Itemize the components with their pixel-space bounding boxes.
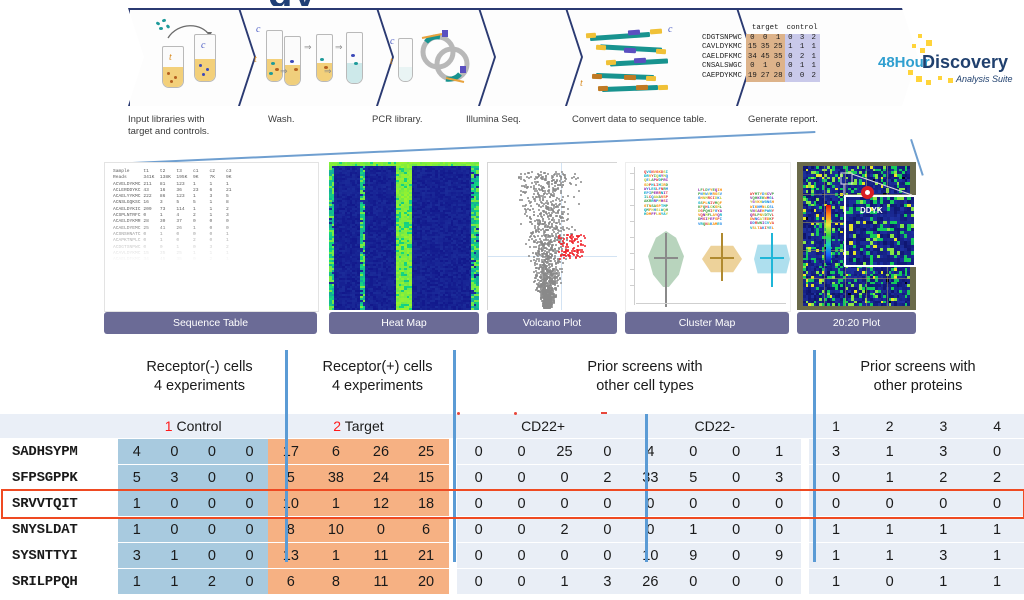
cd22-negative-cell: 9 bbox=[672, 543, 715, 569]
mini-control-cell: 1 bbox=[808, 62, 820, 72]
control-cell: 1 bbox=[118, 569, 156, 595]
mini-target-cell: 27 bbox=[759, 72, 772, 82]
target-cell: 5 bbox=[268, 465, 313, 491]
prior-protein-cell: 0 bbox=[863, 569, 917, 595]
cd22-positive-cell: 0 bbox=[500, 491, 543, 517]
table-row[interactable]: SRVVTQIT10001011218000000000000 bbox=[0, 491, 1024, 517]
panel-strip: Sample t1 t2 t3 c1 c2 c3 Reads 341K 138K… bbox=[104, 162, 916, 334]
target-cell: 38 bbox=[313, 465, 358, 491]
target-cell: 20 bbox=[404, 569, 449, 595]
cd22-negative-cell: 4 bbox=[629, 439, 672, 465]
cd22-positive-cell: 1 bbox=[543, 569, 586, 595]
cd22-positive-cell: 3 bbox=[586, 569, 629, 595]
panel-label-heat-map[interactable]: Heat Map bbox=[329, 312, 479, 334]
subheader-protein-2: 2 bbox=[863, 414, 917, 439]
prior-protein-cell: 2 bbox=[970, 465, 1024, 491]
workflow-caption-1: Input libraries with target and controls… bbox=[128, 114, 248, 138]
workflow-caption-4: Illumina Seq. bbox=[466, 114, 556, 126]
cd22-negative-cell: 0 bbox=[715, 465, 758, 491]
target-cell: 10 bbox=[268, 491, 313, 517]
target-cell: 17 bbox=[268, 439, 313, 465]
group-heading-1-line1: Receptor(-) cells bbox=[112, 358, 287, 377]
cd22-negative-cell: 0 bbox=[672, 491, 715, 517]
workflow-separator-3 bbox=[478, 8, 480, 106]
cd22-negative-cell: 26 bbox=[629, 569, 672, 595]
cluster-logo-line: VSLTAKIYEL bbox=[750, 227, 774, 232]
group-heading-1-line2: 4 experiments bbox=[112, 377, 287, 396]
cd22-negative-cell: 0 bbox=[758, 569, 801, 595]
control-cell: 0 bbox=[231, 491, 269, 517]
cd22-negative-cell: 0 bbox=[715, 439, 758, 465]
control-cell: 3 bbox=[118, 543, 156, 569]
mini-sequence: CAVLDYKMC bbox=[700, 43, 746, 53]
mini-control-cell: 3 bbox=[796, 34, 808, 44]
sequence-name-cell: SRILPPQH bbox=[0, 569, 118, 595]
prior-protein-cell: 1 bbox=[809, 569, 863, 595]
mini-table-body: CDGTSNPWC001032CAVLDYKMC153525111CAELDFK… bbox=[700, 34, 820, 82]
sequence-name-cell: SFPSGPPK bbox=[0, 465, 118, 491]
mini-table-row: CNSALSWGC010011 bbox=[700, 62, 820, 72]
prior-protein-cell: 1 bbox=[917, 517, 971, 543]
cd22-negative-cell: 0 bbox=[715, 569, 758, 595]
group-heading-receptor-negative: Receptor(-) cells 4 experiments bbox=[112, 358, 287, 396]
subheader-protein-3: 3 bbox=[917, 414, 971, 439]
panel-label-sequence-table[interactable]: Sequence Table bbox=[104, 312, 317, 334]
mini-target-cell: 19 bbox=[746, 72, 759, 82]
mini-control-cell: 0 bbox=[796, 72, 808, 82]
control-cell: 0 bbox=[231, 517, 269, 543]
workflow-separator-1 bbox=[238, 8, 240, 106]
subheader-protein-1: 1 bbox=[809, 414, 863, 439]
mini-control-cell: 0 bbox=[785, 34, 797, 44]
control-cell: 1 bbox=[156, 543, 194, 569]
control-cell: 4 bbox=[118, 439, 156, 465]
control-cell: 0 bbox=[193, 465, 231, 491]
sequence-table-thumbnail: Sample t1 t2 t3 c1 c2 c3 Reads 341K 138K… bbox=[104, 162, 319, 312]
cd22-positive-cell: 0 bbox=[457, 465, 500, 491]
slide-canvas: gy t c bbox=[0, 0, 1024, 600]
control-cell: 0 bbox=[231, 543, 269, 569]
cd22-negative-cell: 0 bbox=[629, 517, 672, 543]
cd22-positive-cell: 0 bbox=[500, 439, 543, 465]
gap-cell bbox=[801, 517, 810, 543]
mini-target-cell: 35 bbox=[759, 43, 772, 53]
target-cell: 6 bbox=[268, 569, 313, 595]
group-heading-2-line2: 4 experiments bbox=[290, 377, 465, 396]
control-cell: 0 bbox=[231, 439, 269, 465]
mini-sequence: CAELDFKMC bbox=[700, 53, 746, 63]
subheader-protein-4: 4 bbox=[970, 414, 1024, 439]
workflow-mini-sequence-table: target control CDGTSNPWC001032CAVLDYKMC1… bbox=[700, 24, 820, 82]
target-cell: 11 bbox=[358, 569, 403, 595]
control-cell: 0 bbox=[231, 569, 269, 595]
mini-table-row: CAEPDYKMC192728002 bbox=[700, 72, 820, 82]
cd22-negative-cell: 33 bbox=[629, 465, 672, 491]
target-cell: 25 bbox=[404, 439, 449, 465]
cd22-positive-cell: 0 bbox=[457, 569, 500, 595]
mini-target-cell: 35 bbox=[772, 53, 785, 63]
cd22-negative-cell: 10 bbox=[629, 543, 672, 569]
prior-protein-cell: 1 bbox=[863, 517, 917, 543]
cd22-positive-cell: 0 bbox=[500, 543, 543, 569]
group-heading-3-line2: other cell types bbox=[500, 377, 790, 396]
table-row[interactable]: SNYSLDAT100081006002001001111 bbox=[0, 517, 1024, 543]
control-cell: 1 bbox=[156, 569, 194, 595]
prior-protein-cell: 1 bbox=[863, 543, 917, 569]
tt-marker-label: DDYK bbox=[860, 206, 883, 215]
mini-group-control: control bbox=[785, 24, 820, 34]
cd22-positive-cell: 0 bbox=[543, 543, 586, 569]
table-row[interactable]: SFPSGPPK530053824150002335030122 bbox=[0, 465, 1024, 491]
target-cell: 0 bbox=[358, 517, 403, 543]
mini-target-cell: 45 bbox=[759, 53, 772, 63]
divider-cd22p-cd22m bbox=[645, 414, 648, 562]
target-cell: 1 bbox=[313, 491, 358, 517]
mini-table-row: CDGTSNPWC001032 bbox=[700, 34, 820, 44]
panel-label-cluster-map[interactable]: Cluster Map bbox=[625, 312, 789, 334]
mini-target-cell: 25 bbox=[772, 43, 785, 53]
target-cell: 10 bbox=[313, 517, 358, 543]
cd22-negative-cell: 3 bbox=[758, 465, 801, 491]
control-cell: 0 bbox=[156, 491, 194, 517]
mini-target-cell: 1 bbox=[759, 62, 772, 72]
cd22-positive-cell: 25 bbox=[543, 439, 586, 465]
target-cell: 6 bbox=[313, 439, 358, 465]
target-cell: 11 bbox=[358, 543, 403, 569]
twenty-twenty-thumbnail: DDYK bbox=[797, 162, 916, 310]
cd22-negative-cell: 0 bbox=[672, 569, 715, 595]
mini-sequence: CDGTSNPWC bbox=[700, 34, 746, 44]
subheader-control: 1 Control bbox=[118, 414, 268, 439]
workflow-caption-2: Wash. bbox=[268, 114, 358, 126]
results-table-subheader-row: 1 Control 2 Target CD22+ CD22- 1 2 3 4 bbox=[0, 414, 1024, 439]
target-cell: 13 bbox=[268, 543, 313, 569]
mini-target-cell: 28 bbox=[772, 72, 785, 82]
heat-map-thumbnail bbox=[329, 162, 479, 310]
cd22-negative-cell: 9 bbox=[758, 543, 801, 569]
logo-analysis-suite: Analysis Suite bbox=[956, 74, 1013, 84]
mini-target-cell: 34 bbox=[746, 53, 759, 63]
sequence-name-cell: SYSNTTYI bbox=[0, 543, 118, 569]
mini-table-row: CAELDFKMC344535021 bbox=[700, 53, 820, 63]
control-cell: 3 bbox=[156, 465, 194, 491]
brand-logo: 48Hour Discovery Analysis Suite bbox=[870, 32, 1020, 92]
mini-control-cell: 1 bbox=[785, 43, 797, 53]
sequence-name-cell: SADHSYPM bbox=[0, 439, 118, 465]
target-cell: 8 bbox=[313, 569, 358, 595]
cd22-positive-cell: 0 bbox=[457, 543, 500, 569]
cd22-positive-cell: 0 bbox=[457, 491, 500, 517]
mini-control-cell: 1 bbox=[808, 53, 820, 63]
workflow-banner: t c c t ⇒ ⇒ ⇒ ⇒ bbox=[128, 8, 918, 112]
gap-cell bbox=[449, 569, 458, 595]
mini-group-header-row: target control bbox=[700, 24, 820, 34]
control-cell: 0 bbox=[193, 517, 231, 543]
prior-protein-cell: 1 bbox=[863, 439, 917, 465]
mini-control-cell: 0 bbox=[785, 62, 797, 72]
target-cell: 24 bbox=[358, 465, 403, 491]
prior-protein-cell: 1 bbox=[809, 517, 863, 543]
subheader-cd22-negative: CD22- bbox=[629, 414, 801, 439]
results-table-body: SADHSYPM400017626250025040013130SFPSGPPK… bbox=[0, 439, 1024, 595]
prior-protein-cell: 2 bbox=[917, 465, 971, 491]
red-tick-2 bbox=[514, 412, 517, 415]
mini-target-cell: 0 bbox=[746, 62, 759, 72]
sequence-name-cell: SRVVTQIT bbox=[0, 491, 118, 517]
prior-protein-cell: 0 bbox=[809, 491, 863, 517]
mini-target-cell: 0 bbox=[772, 62, 785, 72]
prior-protein-cell: 1 bbox=[863, 465, 917, 491]
panel-sequence-table[interactable]: Sample t1 t2 t3 c1 c2 c3 Reads 341K 138K… bbox=[104, 162, 317, 334]
cd22-positive-cell: 0 bbox=[586, 439, 629, 465]
cluster-logo-line: VRQNAKAMEG bbox=[698, 223, 722, 228]
cd22-positive-cell: 0 bbox=[500, 517, 543, 543]
cd22-negative-cell: 1 bbox=[672, 517, 715, 543]
target-cell: 12 bbox=[358, 491, 403, 517]
prior-protein-cell: 1 bbox=[970, 517, 1024, 543]
mini-control-cell: 1 bbox=[808, 43, 820, 53]
prior-protein-cell: 1 bbox=[917, 569, 971, 595]
cd22-positive-cell: 2 bbox=[586, 465, 629, 491]
group-heading-4-line1: Prior screens with bbox=[818, 358, 1018, 377]
cluster-map-thumbnail: QVSNVGKDSIDRVYIQNYMQQELAPWDPRCSDPHLIMIRD… bbox=[625, 162, 791, 312]
prior-protein-cell: 0 bbox=[863, 491, 917, 517]
control-cell: 2 bbox=[193, 569, 231, 595]
mini-control-cell: 1 bbox=[796, 62, 808, 72]
red-tick-1 bbox=[457, 412, 460, 415]
step1-letter-c: c bbox=[201, 40, 205, 51]
mini-control-cell: 2 bbox=[808, 72, 820, 82]
control-cell: 0 bbox=[193, 491, 231, 517]
control-cell: 0 bbox=[156, 517, 194, 543]
group-heading-4-line2: other proteins bbox=[818, 377, 1018, 396]
mini-control-cell: 1 bbox=[796, 43, 808, 53]
logo-discovery: Discovery bbox=[922, 52, 1008, 73]
cd22-positive-cell: 0 bbox=[543, 491, 586, 517]
gap-cell bbox=[801, 491, 810, 517]
cd22-positive-cell: 0 bbox=[586, 543, 629, 569]
mini-table-row: CAVLDYKMC153525111 bbox=[700, 43, 820, 53]
tt-location-pin-icon bbox=[861, 186, 874, 199]
cd22-negative-cell: 0 bbox=[715, 517, 758, 543]
mini-control-cell: 2 bbox=[796, 53, 808, 63]
mini-target-cell: 0 bbox=[759, 34, 772, 44]
target-cell: 26 bbox=[358, 439, 403, 465]
control-cell: 5 bbox=[118, 465, 156, 491]
red-tick-3 bbox=[601, 412, 607, 414]
control-cell: 0 bbox=[231, 465, 269, 491]
cd22-negative-cell: 0 bbox=[715, 491, 758, 517]
cd22-positive-cell: 0 bbox=[500, 465, 543, 491]
cluster-logo-line: HDMFFLNYAY bbox=[644, 213, 668, 218]
table-row[interactable]: SYSNTTYI310013111210000109091131 bbox=[0, 543, 1024, 569]
cd22-negative-cell: 0 bbox=[758, 491, 801, 517]
cd22-negative-cell: 0 bbox=[715, 543, 758, 569]
cd22-positive-cell: 0 bbox=[586, 517, 629, 543]
mini-target-cell: 1 bbox=[772, 34, 785, 44]
prior-protein-cell: 0 bbox=[970, 439, 1024, 465]
cd22-negative-cell: 5 bbox=[672, 465, 715, 491]
target-cell: 18 bbox=[404, 491, 449, 517]
mini-sequence: CNSALSWGC bbox=[700, 62, 746, 72]
mini-control-cell: 0 bbox=[785, 72, 797, 82]
mini-control-cell: 2 bbox=[808, 34, 820, 44]
results-table-head: 1 Control 2 Target CD22+ CD22- 1 2 3 4 bbox=[0, 414, 1024, 439]
cd22-positive-cell: 0 bbox=[543, 465, 586, 491]
prior-protein-cell: 1 bbox=[970, 543, 1024, 569]
subheader-cd22-positive: CD22+ bbox=[457, 414, 629, 439]
mini-target-cell: 15 bbox=[746, 43, 759, 53]
prior-protein-cell: 3 bbox=[917, 439, 971, 465]
workflow-caption-5: Convert data to sequence table. bbox=[572, 114, 752, 126]
cd22-negative-cell: 0 bbox=[758, 517, 801, 543]
group-heading-2-line1: Receptor(+) cells bbox=[290, 358, 465, 377]
panel-volcano-plot[interactable]: Volcano Plot bbox=[487, 162, 617, 334]
tt-colorbar bbox=[826, 205, 831, 265]
panel-cluster-map[interactable]: QVSNVGKDSIDRVYIQNYMQQELAPWDPRCSDPHLIMIRD… bbox=[625, 162, 789, 334]
prior-protein-cell: 0 bbox=[917, 491, 971, 517]
control-cell: 0 bbox=[193, 439, 231, 465]
table-row[interactable]: SADHSYPM400017626250025040013130 bbox=[0, 439, 1024, 465]
cd22-positive-cell: 0 bbox=[457, 439, 500, 465]
prior-protein-cell: 0 bbox=[970, 491, 1024, 517]
prior-protein-cell: 0 bbox=[809, 465, 863, 491]
workflow-caption-6: Generate report. bbox=[748, 114, 858, 126]
plasmid-icon bbox=[416, 28, 474, 86]
target-cell: 6 bbox=[404, 517, 449, 543]
sequence-name-cell: SNYSLDAT bbox=[0, 517, 118, 543]
group-heading-other-proteins: Prior screens with other proteins bbox=[818, 358, 1018, 396]
results-table: 1 Control 2 Target CD22+ CD22- 1 2 3 4 S… bbox=[0, 414, 1024, 595]
volcano-plot-thumbnail bbox=[487, 162, 617, 310]
control-cell: 0 bbox=[156, 439, 194, 465]
gap-cell bbox=[801, 569, 810, 595]
cd22-negative-cell: 0 bbox=[672, 439, 715, 465]
cd22-positive-cell: 2 bbox=[543, 517, 586, 543]
mini-control-cell: 0 bbox=[785, 53, 797, 63]
cd22-negative-cell: 1 bbox=[758, 439, 801, 465]
gap-cell bbox=[801, 439, 810, 465]
mini-sequence: CAEPDYKMC bbox=[700, 72, 746, 82]
cd22-positive-cell: 0 bbox=[500, 569, 543, 595]
cd22-positive-cell: 0 bbox=[457, 517, 500, 543]
gap-cell bbox=[801, 465, 810, 491]
prior-protein-cell: 3 bbox=[917, 543, 971, 569]
subheader-blank bbox=[0, 414, 118, 439]
control-cell: 1 bbox=[118, 491, 156, 517]
gap-cell bbox=[801, 543, 810, 569]
workflow-caption-3: PCR library. bbox=[372, 114, 462, 126]
panel-heat-map[interactable]: Heat Map bbox=[329, 162, 479, 334]
prior-protein-cell: 1 bbox=[970, 569, 1024, 595]
cd22-negative-cell: 0 bbox=[629, 491, 672, 517]
prior-protein-cell: 3 bbox=[809, 439, 863, 465]
step1-letter-t: t bbox=[169, 52, 172, 63]
sequence-table-text: Sample t1 t2 t3 c1 c2 c3 Reads 341K 138K… bbox=[105, 163, 318, 263]
panel-label-twenty-twenty-plot[interactable]: 20:20 Plot bbox=[797, 312, 916, 334]
workflow-separator-4 bbox=[565, 8, 567, 106]
divider-priorcells-proteins bbox=[813, 350, 816, 562]
control-cell: 0 bbox=[193, 543, 231, 569]
panel-label-volcano-plot[interactable]: Volcano Plot bbox=[487, 312, 617, 334]
control-cell: 1 bbox=[118, 517, 156, 543]
workflow-separator-2 bbox=[376, 8, 378, 106]
target-cell: 21 bbox=[404, 543, 449, 569]
target-cell: 8 bbox=[268, 517, 313, 543]
mini-group-target: target bbox=[746, 24, 785, 34]
divider-target-priorcells bbox=[453, 350, 456, 562]
cd22-positive-cell: 0 bbox=[586, 491, 629, 517]
prior-protein-cell: 1 bbox=[809, 543, 863, 569]
mini-target-cell: 0 bbox=[746, 34, 759, 44]
target-cell: 15 bbox=[404, 465, 449, 491]
table-row[interactable]: SRILPPQH11206811200013260001011 bbox=[0, 569, 1024, 595]
group-heading-receptor-positive: Receptor(+) cells 4 experiments bbox=[290, 358, 465, 396]
subheader-target: 2 Target bbox=[268, 414, 448, 439]
group-heading-3-line1: Prior screens with bbox=[500, 358, 790, 377]
divider-control-target bbox=[285, 350, 288, 562]
target-cell: 1 bbox=[313, 543, 358, 569]
page-title: gy bbox=[268, 0, 488, 6]
panel-twenty-twenty-plot[interactable]: DDYK 20:20 Plot bbox=[797, 162, 916, 334]
results-table-grid: 1 Control 2 Target CD22+ CD22- 1 2 3 4 S… bbox=[0, 414, 1024, 595]
group-heading-other-cell-types: Prior screens with other cell types bbox=[500, 358, 790, 396]
